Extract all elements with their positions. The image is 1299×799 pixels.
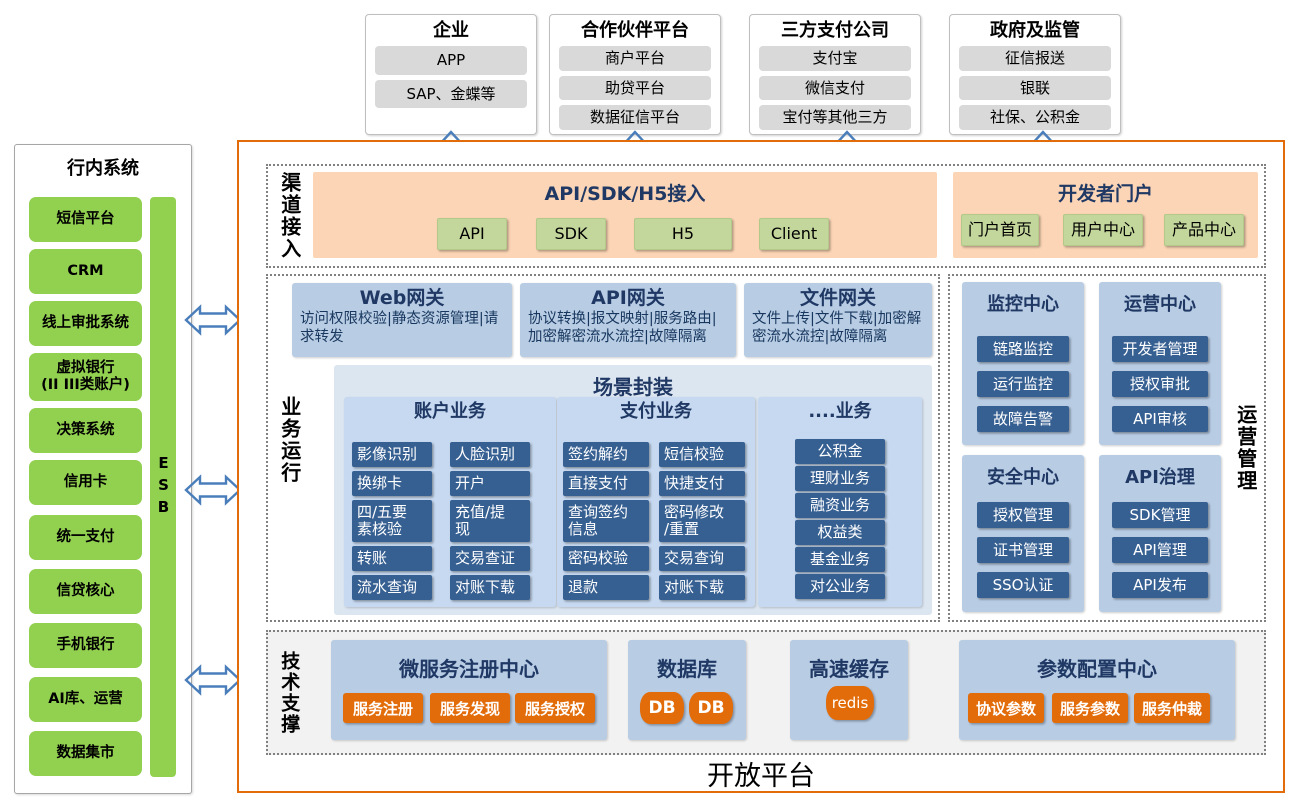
inbank-item-ai-library-operations[interactable]: AI库、运营: [29, 677, 142, 722]
external-card-title: 三方支付公司: [759, 21, 911, 41]
external-card-item[interactable]: SAP、金蝶等: [375, 80, 527, 109]
scene-chip[interactable]: 换绑卡: [352, 471, 432, 496]
ops-chip[interactable]: 故障告警: [977, 406, 1069, 432]
external-card-title: 合作伙伴平台: [559, 21, 711, 41]
scene-chip[interactable]: 公积金: [795, 439, 885, 464]
scene-chip[interactable]: 充值/提 现: [450, 500, 530, 542]
inbank-item-decision-system[interactable]: 决策系统: [29, 408, 142, 453]
external-card-item[interactable]: 微信支付: [759, 76, 911, 101]
scene-chip[interactable]: 人脸识别: [450, 442, 530, 467]
inbank-item-online-approval[interactable]: 线上审批系统: [29, 301, 142, 346]
esb-label: ESB: [156, 454, 171, 520]
external-system-card-third-party-payment[interactable]: 三方支付公司 支付宝 微信支付 宝付等其他三方: [749, 14, 921, 135]
ops-chip[interactable]: SDK管理: [1112, 502, 1208, 528]
external-card-title: 企业: [375, 21, 527, 41]
scene-chip[interactable]: 对账下载: [659, 575, 745, 600]
channel-access-label: 渠道接入: [272, 168, 306, 264]
api-sdk-h5-access-block: API/SDK/H5接入: [313, 172, 937, 258]
redis-icon[interactable]: redis: [826, 686, 874, 720]
external-card-item[interactable]: 数据征信平台: [559, 105, 711, 130]
channel-chip-client[interactable]: Client: [759, 218, 829, 250]
scene-chip[interactable]: 直接支付: [563, 471, 649, 496]
ops-chip[interactable]: 授权管理: [977, 502, 1069, 528]
tech-chip-service-discovery[interactable]: 服务发现: [430, 693, 510, 723]
scene-group-title: ....业务: [758, 397, 922, 422]
inbank-item-credit-card[interactable]: 信用卡: [29, 460, 142, 505]
tech-card-microservice-registry[interactable]: 微服务注册中心: [331, 640, 607, 740]
tech-card-title: 数据库: [628, 640, 746, 682]
ops-chip[interactable]: 运行监控: [977, 371, 1069, 397]
channel-chip-h5[interactable]: H5: [634, 218, 732, 250]
business-run-label: 业务运行: [272, 380, 306, 500]
ops-chip[interactable]: 开发者管理: [1112, 336, 1208, 362]
portal-chip-product-center[interactable]: 产品中心: [1164, 214, 1244, 246]
tech-card-title: 参数配置中心: [959, 640, 1235, 682]
portal-chip-user-center[interactable]: 用户中心: [1063, 214, 1143, 246]
scene-chip[interactable]: 交易查询: [659, 546, 745, 571]
ops-card-title: 监控中心: [962, 282, 1084, 316]
scene-chip[interactable]: 基金业务: [795, 547, 885, 572]
scene-chip[interactable]: 签约解约: [563, 442, 649, 467]
inbank-item-data-mart[interactable]: 数据集市: [29, 731, 142, 776]
external-card-item[interactable]: 银联: [959, 76, 1111, 101]
external-system-card-government-regulator[interactable]: 政府及监管 征信报送 银联 社保、公积金: [949, 14, 1121, 135]
ops-chip[interactable]: API审核: [1112, 406, 1208, 432]
scene-chip[interactable]: 转账: [352, 546, 432, 571]
ops-chip[interactable]: SSO认证: [977, 572, 1069, 598]
scene-chip[interactable]: 融资业务: [795, 493, 885, 518]
scene-chip[interactable]: 退款: [563, 575, 649, 600]
tech-support-label: 技术支撑: [272, 640, 306, 745]
scene-chip[interactable]: 权益类: [795, 520, 885, 545]
external-card-item[interactable]: 社保、公积金: [959, 105, 1111, 130]
scene-title: 场景封装: [334, 365, 932, 400]
tech-card-database[interactable]: 数据库: [628, 640, 746, 740]
scene-chip[interactable]: 密码校验: [563, 546, 649, 571]
ops-chip[interactable]: 链路监控: [977, 336, 1069, 362]
scene-chip[interactable]: 快捷支付: [659, 471, 745, 496]
scene-chip[interactable]: 影像识别: [352, 442, 432, 467]
scene-chip[interactable]: 交易查证: [450, 546, 530, 571]
portal-chip-home[interactable]: 门户首页: [961, 214, 1039, 246]
ops-chip[interactable]: 授权审批: [1112, 371, 1208, 397]
inbank-item-unified-payment[interactable]: 统一支付: [29, 515, 142, 560]
external-system-card-partner-platform[interactable]: 合作伙伴平台 商户平台 助贷平台 数据征信平台: [549, 14, 721, 135]
ops-chip[interactable]: 证书管理: [977, 537, 1069, 563]
esb-bus: ESB: [150, 197, 176, 777]
gateway-desc: 文件上传|文件下载|加密解密流水流控|故障隔离: [752, 310, 924, 347]
scene-chip[interactable]: 密码修改 /重置: [659, 500, 745, 542]
scene-chip[interactable]: 开户: [450, 471, 530, 496]
inbank-item-virtual-bank[interactable]: 虚拟银行 (II III类账户): [29, 353, 142, 401]
gateway-card-web[interactable]: Web网关 访问权限校验|静态资源管理|请求转发: [292, 283, 512, 357]
inbank-systems-panel: 行内系统 短信平台 CRM 线上审批系统 虚拟银行 (II III类账户) 决策…: [14, 144, 192, 794]
ops-chip[interactable]: API管理: [1112, 537, 1208, 563]
external-card-title: 政府及监管: [959, 21, 1111, 41]
inbank-item-crm[interactable]: CRM: [29, 249, 142, 294]
external-card-item[interactable]: 征信报送: [959, 46, 1111, 71]
scene-group-title: 账户业务: [344, 397, 556, 422]
db-cylinder-icon[interactable]: DB: [689, 692, 733, 724]
operations-management-label: 运营管理: [1228, 385, 1262, 510]
ops-chip[interactable]: API发布: [1112, 572, 1208, 598]
external-card-item[interactable]: APP: [375, 46, 527, 75]
scene-chip[interactable]: 对账下载: [450, 575, 530, 600]
platform-title: 开放平台: [237, 760, 1285, 794]
tech-chip-service-parameters[interactable]: 服务参数: [1052, 693, 1128, 723]
external-card-item[interactable]: 支付宝: [759, 46, 911, 71]
scene-group-title: 支付业务: [557, 397, 755, 422]
inbank-item-sms-platform[interactable]: 短信平台: [29, 197, 142, 242]
gateway-card-file[interactable]: 文件网关 文件上传|文件下载|加密解密流水流控|故障隔离: [744, 283, 932, 357]
gateway-card-api[interactable]: API网关 协议转换|报文映射|服务路由|加密解密流水流控|故障隔离: [520, 283, 736, 357]
gateway-title: API网关: [528, 288, 728, 310]
ops-card-title: API治理: [1099, 455, 1221, 489]
inbank-panel-title: 行内系统: [15, 145, 191, 186]
channel-chip-api[interactable]: API: [437, 218, 507, 250]
tech-chip-service-arbitration[interactable]: 服务仲裁: [1134, 693, 1210, 723]
external-card-item[interactable]: 助贷平台: [559, 76, 711, 101]
gateway-desc: 协议转换|报文映射|服务路由|加密解密流水流控|故障隔离: [528, 310, 728, 347]
scene-chip[interactable]: 流水查询: [352, 575, 432, 600]
tech-card-title: 微服务注册中心: [331, 640, 607, 682]
scene-chip[interactable]: 查询签约 信息: [563, 500, 649, 542]
api-access-title: API/SDK/H5接入: [313, 172, 937, 206]
tech-chip-service-register[interactable]: 服务注册: [343, 693, 423, 723]
tech-card-title: 高速缓存: [790, 640, 908, 682]
channel-chip-sdk[interactable]: SDK: [536, 218, 606, 250]
scene-chip[interactable]: 短信校验: [659, 442, 745, 467]
external-card-item[interactable]: 宝付等其他三方: [759, 105, 911, 130]
gateway-title: 文件网关: [752, 288, 924, 310]
scene-chip[interactable]: 四/五要 素核验: [352, 500, 432, 542]
external-card-item[interactable]: 商户平台: [559, 46, 711, 71]
inbank-item-credit-core[interactable]: 信贷核心: [29, 569, 142, 614]
scene-chip[interactable]: 对公业务: [795, 574, 885, 599]
gateway-title: Web网关: [300, 288, 504, 310]
tech-card-parameter-config-center[interactable]: 参数配置中心: [959, 640, 1235, 740]
tech-chip-service-authorization[interactable]: 服务授权: [515, 693, 595, 723]
db-cylinder-icon[interactable]: DB: [640, 692, 684, 724]
tech-chip-protocol-parameters[interactable]: 协议参数: [968, 693, 1044, 723]
external-system-card-enterprise[interactable]: 企业 APP SAP、金蝶等: [365, 14, 537, 135]
ops-card-title: 运营中心: [1099, 282, 1221, 316]
scene-chip[interactable]: 理财业务: [795, 466, 885, 491]
ops-card-title: 安全中心: [962, 455, 1084, 489]
inbank-item-mobile-banking[interactable]: 手机银行: [29, 623, 142, 668]
gateway-desc: 访问权限校验|静态资源管理|请求转发: [300, 310, 504, 347]
developer-portal-title: 开发者门户: [953, 172, 1258, 206]
